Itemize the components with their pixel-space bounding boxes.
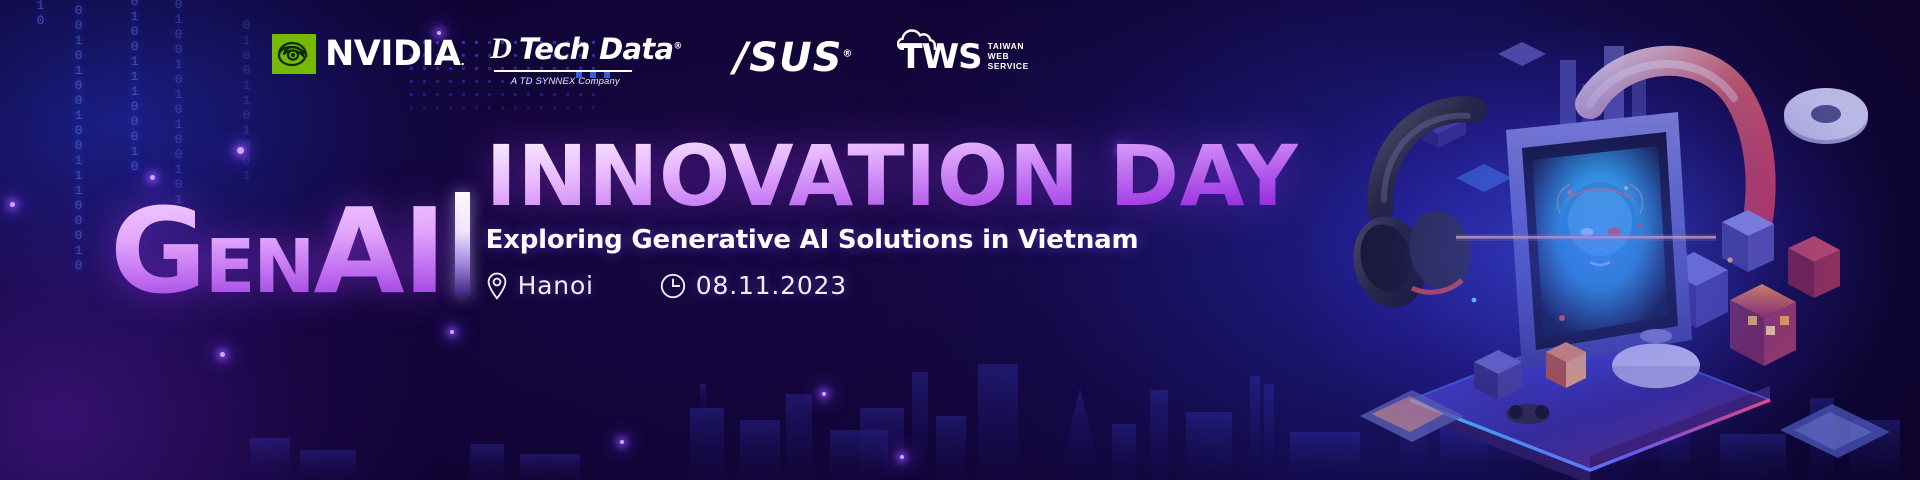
- headline-block: GENAI INNOVATION DAY Exploring Generativ…: [110, 140, 1298, 300]
- headline-divider: [455, 192, 470, 296]
- event-location-label: Hanoi: [518, 271, 594, 300]
- event-date-label: 08.11.2023: [696, 271, 847, 300]
- ai-isometric-city-illustration: [1260, 0, 1920, 480]
- asus-registered: ®: [842, 49, 853, 60]
- spark-dot: [450, 330, 454, 334]
- partner-logo-bar: NVIDIA. D Tech Data® A TD SYNNEX Company…: [272, 34, 1029, 91]
- techdata-logo[interactable]: D Tech Data® A TD SYNNEX Company: [490, 34, 681, 91]
- event-date: 08.11.2023: [660, 271, 847, 300]
- spark-dot: [900, 455, 904, 459]
- location-pin-icon: [486, 272, 508, 300]
- asus-logo[interactable]: /SUS®: [734, 38, 854, 78]
- techdata-wordmark: Tech Data®: [519, 35, 682, 64]
- genai-innovation-day-banner: 0010 1001010010011100010 10010011100010 …: [0, 0, 1920, 480]
- spark-dot: [822, 392, 826, 396]
- clock-icon: [660, 273, 686, 299]
- techdata-underline: [494, 70, 633, 72]
- techdata-d-mark: D: [490, 34, 512, 64]
- nvidia-wordmark: NVIDIA.: [325, 37, 464, 72]
- event-location: Hanoi: [486, 271, 594, 300]
- hero-glow: [1300, 30, 1880, 460]
- genai-logotype: GENAI: [110, 203, 445, 300]
- asus-wordmark: /SUS: [734, 35, 843, 81]
- spark-dot: [10, 202, 15, 207]
- techdata-square: [590, 72, 596, 78]
- nvidia-eye-icon: [272, 34, 316, 74]
- tws-logo[interactable]: TWS TAIWAN WEB SERVICE: [899, 40, 1029, 74]
- spark-dot: [220, 352, 225, 357]
- techdata-square: [604, 72, 610, 78]
- cloud-icon: [897, 26, 953, 50]
- spark-dot: [620, 440, 624, 444]
- event-meta-row: Hanoi 08.11.2023: [486, 271, 1299, 300]
- techdata-tagline: A TD SYNNEX Company: [490, 76, 640, 87]
- page-title: INNOVATION DAY: [486, 140, 1299, 212]
- nvidia-logo[interactable]: NVIDIA.: [272, 34, 464, 74]
- subtitle: Exploring Generative AI Solutions in Vie…: [486, 225, 1299, 255]
- tws-sub-lines: TAIWAN WEB SERVICE: [988, 41, 1029, 74]
- techdata-square: [576, 72, 582, 78]
